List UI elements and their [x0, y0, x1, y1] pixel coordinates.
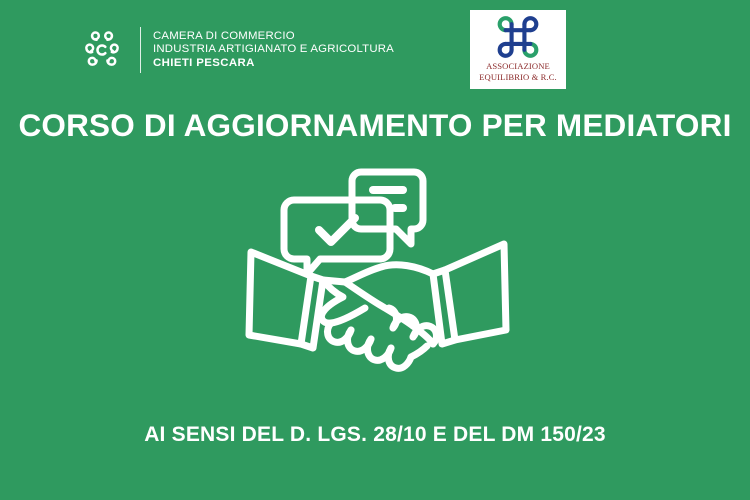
associazione-logo-lockup: ASSOCIAZIONE EQUILIBRIO & R.C.	[470, 10, 566, 89]
right-hand-sleeve	[433, 244, 506, 344]
page-title: CORSO DI AGGIORNAMENTO PER MEDIATORI	[0, 106, 750, 144]
cciaa-logo-text: CAMERA DI COMMERCIO INDUSTRIA ARTIGIANAT…	[153, 30, 394, 71]
poster-canvas: CAMERA DI COMMERCIO INDUSTRIA ARTIGIANAT…	[0, 0, 750, 500]
chat-bubble-front-with-checkmark	[284, 200, 390, 274]
cciaa-line-3: CHIETI PESCARA	[153, 57, 394, 71]
cciaa-line-2: INDUSTRIA ARTIGIANATO E AGRICOLTURA	[153, 43, 394, 57]
cciaa-spiral-rosette-icon	[78, 26, 126, 74]
handshake-with-chat-bubbles-illustration	[245, 158, 510, 403]
cciaa-line-1: CAMERA DI COMMERCIO	[153, 30, 394, 44]
logo-divider	[140, 27, 141, 73]
interlocking-knot-icon	[495, 15, 541, 59]
page-subtitle: AI SENSI DEL D. LGS. 28/10 E DEL DM 150/…	[0, 422, 750, 448]
header-logo-bar: CAMERA DI COMMERCIO INDUSTRIA ARTIGIANAT…	[0, 0, 750, 96]
associazione-logo-text: ASSOCIAZIONE EQUILIBRIO & R.C.	[479, 61, 557, 82]
assoc-line-1: ASSOCIAZIONE	[479, 61, 557, 72]
cciaa-logo-lockup: CAMERA DI COMMERCIO INDUSTRIA ARTIGIANAT…	[78, 22, 394, 78]
interlocked-fingers	[321, 265, 436, 369]
assoc-line-2: EQUILIBRIO & R.C.	[479, 72, 557, 83]
